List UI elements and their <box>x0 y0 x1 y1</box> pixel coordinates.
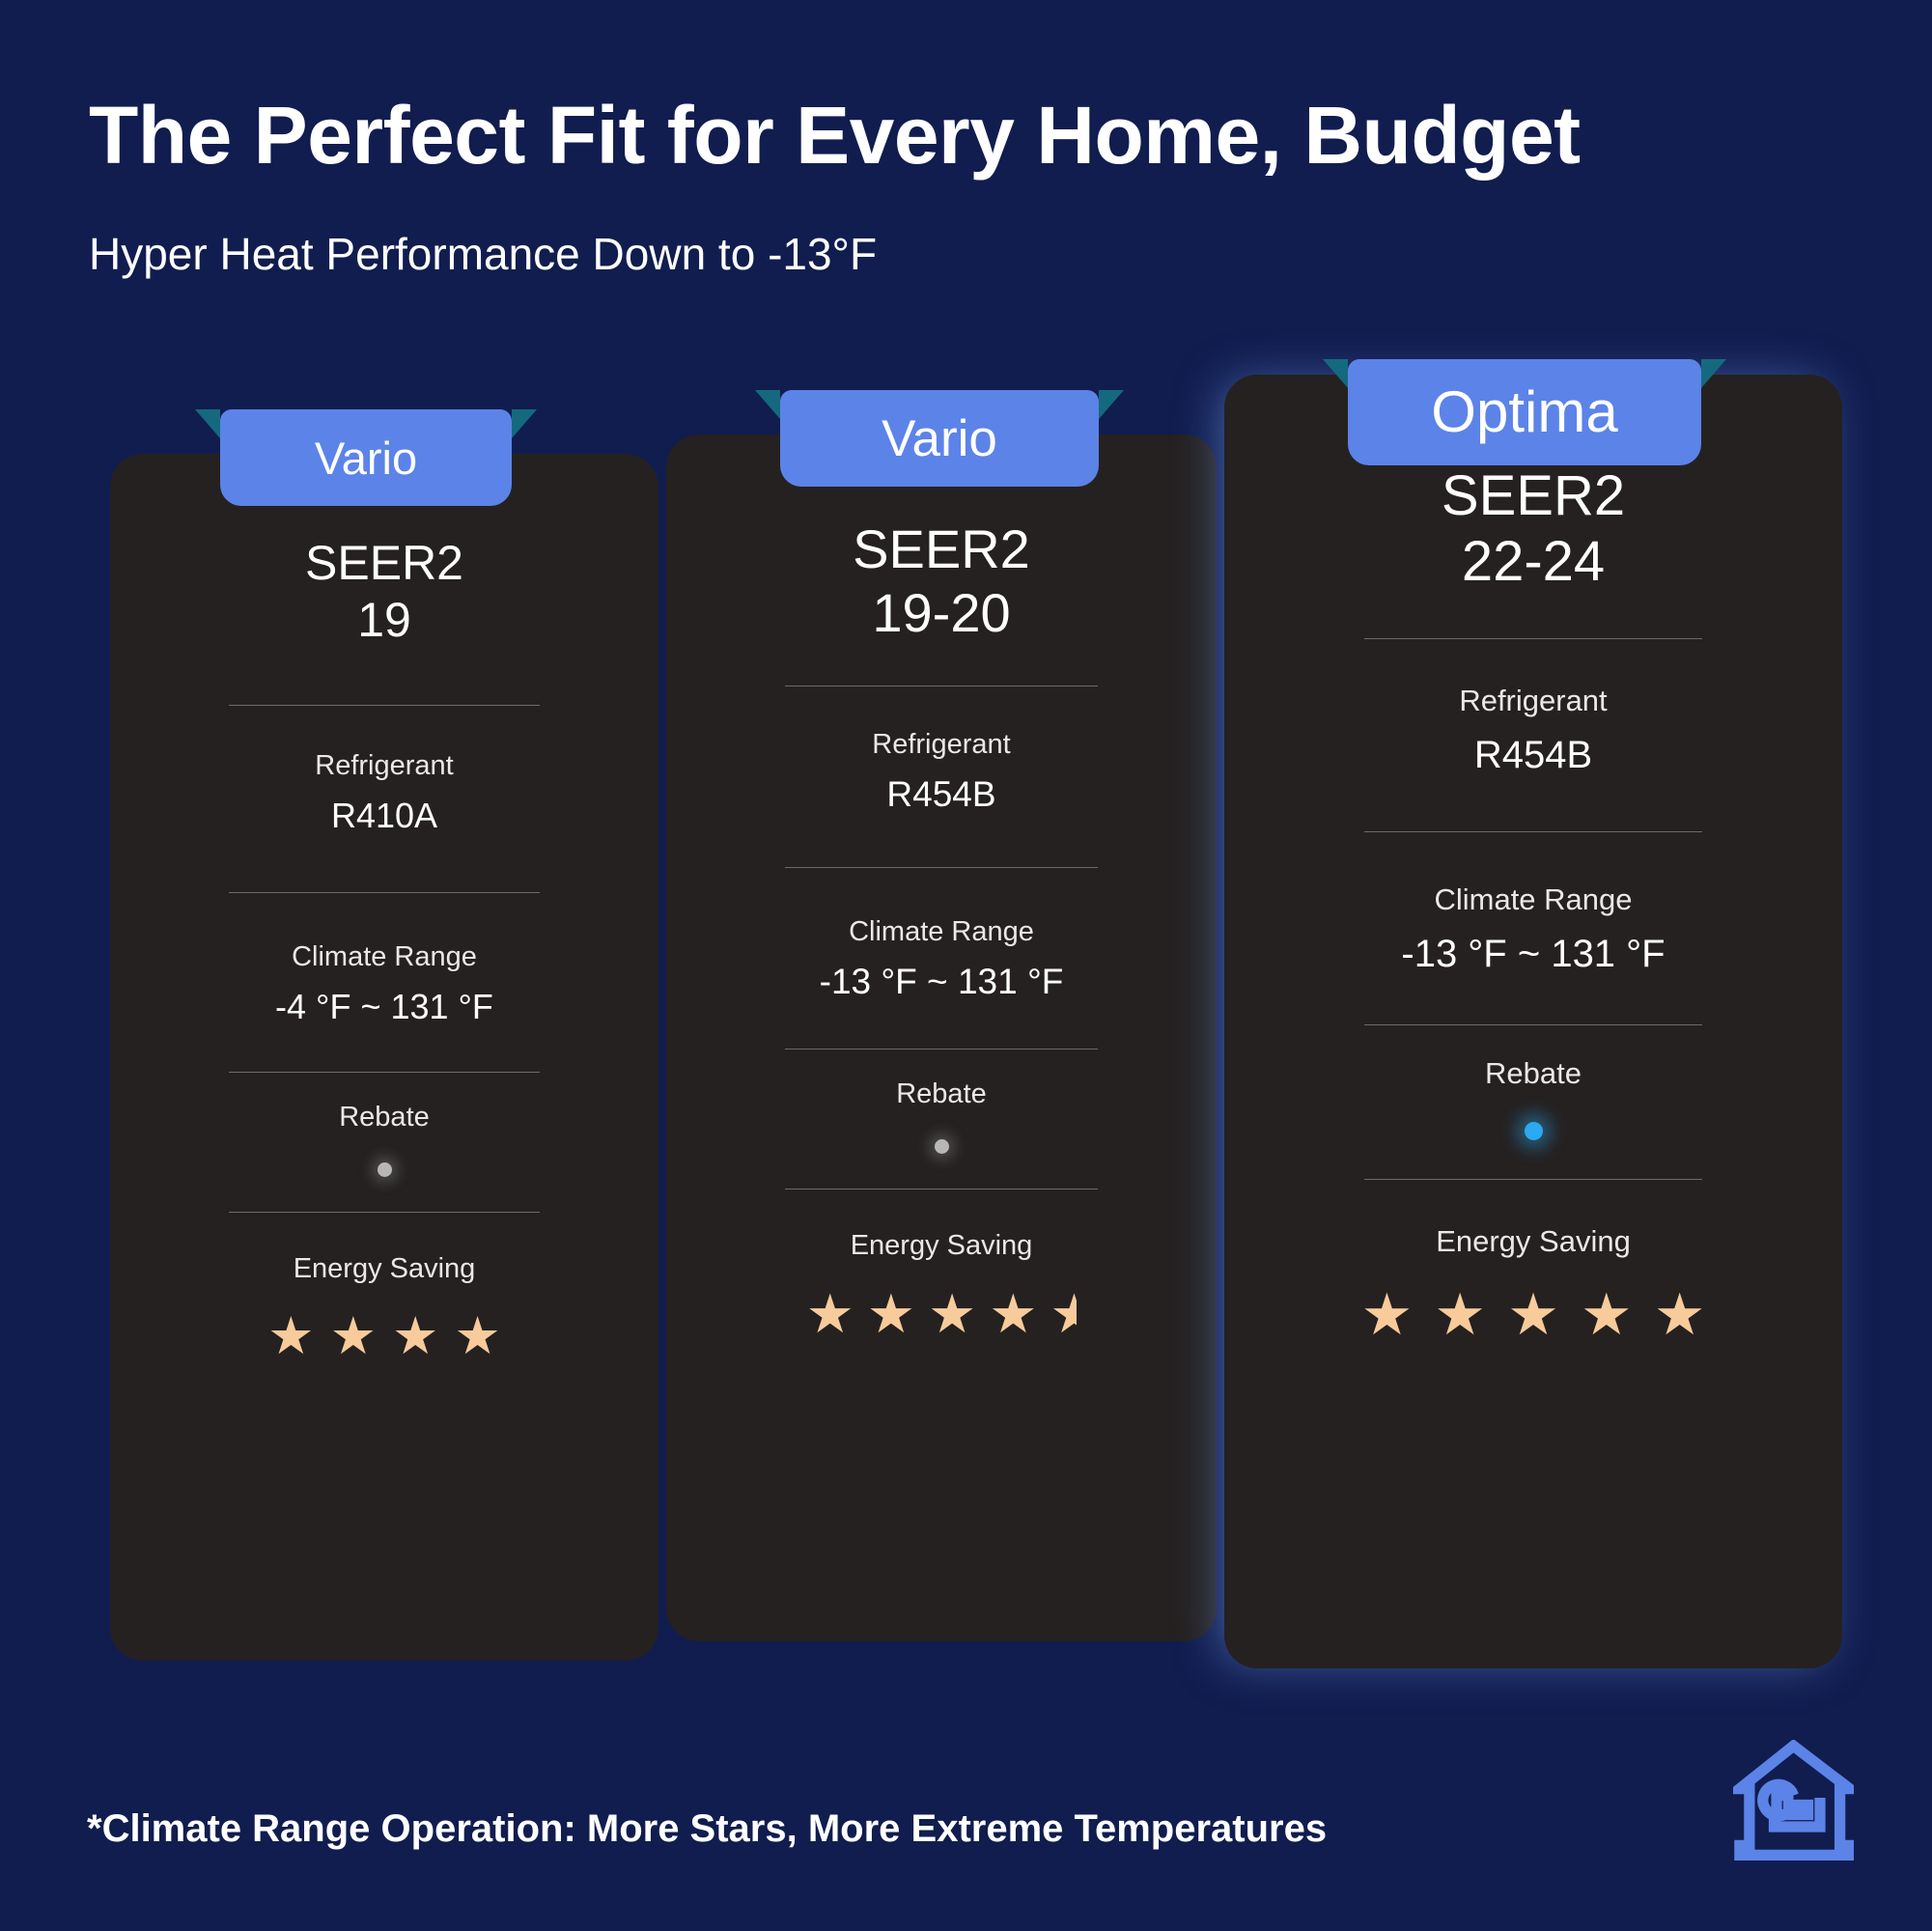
ribbon-fold-left-icon <box>1323 359 1348 388</box>
rebate-indicator-dot-icon <box>378 1162 392 1177</box>
product-card-list: SEER2 19 Refrigerant R410A Climate Range… <box>0 0 1932 1931</box>
star-icon: ★ <box>454 1310 500 1362</box>
spec-label: Refrigerant <box>110 750 658 782</box>
spec-value: R454B <box>666 774 1217 815</box>
spec-label: Rebate <box>666 1078 1217 1110</box>
spec-label: Energy Saving <box>110 1253 658 1285</box>
spec-label: Climate Range <box>666 916 1217 948</box>
ribbon-fold-left-icon <box>195 409 220 438</box>
spec-label: Climate Range <box>1224 882 1842 917</box>
ribbon-fold-left-icon <box>755 390 780 419</box>
star-icon: ★ <box>928 1287 976 1341</box>
star-icon: ★ <box>867 1287 915 1341</box>
spec-row-energy-saving: Energy Saving ★ ★ ★ ★ ★ <box>1224 1224 1842 1344</box>
seer-block: SEER2 22-24 <box>1442 463 1625 596</box>
spec-label: Rebate <box>110 1102 658 1133</box>
spec-label: Energy Saving <box>1224 1224 1842 1259</box>
star-icon: ★ <box>989 1287 1037 1341</box>
seer-value: 19-20 <box>853 581 1030 645</box>
product-card-vario-19[interactable]: SEER2 19 Refrigerant R410A Climate Range… <box>110 454 658 1661</box>
ribbon-fold-right-icon <box>512 409 537 438</box>
star-icon: ★ <box>806 1287 854 1341</box>
spec-row-rebate: Rebate <box>110 1102 658 1177</box>
seer-block: SEER2 19 <box>305 535 463 649</box>
spec-row-refrigerant: Refrigerant R454B <box>1224 684 1842 777</box>
ribbon-label: Optima <box>1431 383 1617 441</box>
spec-label: Energy Saving <box>666 1230 1217 1262</box>
spec-row-rebate: Rebate <box>1224 1056 1842 1140</box>
star-icon: ★ <box>392 1310 438 1362</box>
spec-row-climate-range: Climate Range -13 °F ~ 131 °F <box>1224 882 1842 976</box>
spec-label: Refrigerant <box>666 729 1217 761</box>
seer-label: SEER2 <box>1442 463 1625 529</box>
spec-row-energy-saving: Energy Saving ★ ★ ★ ★ ★ <box>666 1230 1217 1341</box>
spec-row-climate-range: Climate Range -4 °F ~ 131 °F <box>110 941 658 1027</box>
ribbon-fold-right-icon <box>1701 359 1726 388</box>
half-star-icon: ★ <box>1050 1287 1077 1341</box>
product-tier-ribbon-vario-1[interactable]: Vario <box>220 409 512 506</box>
rebate-indicator-dot-icon <box>935 1139 949 1154</box>
house-logo-icon <box>1733 1740 1854 1861</box>
star-icon: ★ <box>1581 1286 1633 1344</box>
star-icon: ★ <box>1507 1286 1559 1344</box>
rebate-indicator-dot-icon <box>1525 1122 1543 1140</box>
spec-value: -13 °F ~ 131 °F <box>1224 933 1842 976</box>
star-icon: ★ <box>1434 1286 1486 1344</box>
seer-label: SEER2 <box>305 535 463 592</box>
spec-label: Refrigerant <box>1224 684 1842 718</box>
energy-saving-stars: ★ ★ ★ ★ ★ <box>1224 1286 1842 1344</box>
spec-label: Rebate <box>1224 1056 1842 1091</box>
spec-row-refrigerant: Refrigerant R454B <box>666 729 1217 815</box>
star-icon: ★ <box>1361 1286 1414 1344</box>
energy-saving-stars: ★ ★ ★ ★ ★ <box>666 1287 1217 1341</box>
spec-value: -4 °F ~ 131 °F <box>110 987 658 1027</box>
star-icon: ★ <box>267 1310 314 1362</box>
footnote-text: *Climate Range Operation: More Stars, Mo… <box>87 1807 1327 1851</box>
card-content: SEER2 19 Refrigerant R410A Climate Range… <box>110 454 658 1362</box>
card-content: SEER2 19-20 Refrigerant R454B Climate Ra… <box>666 434 1217 1341</box>
spec-row-climate-range: Climate Range -13 °F ~ 131 °F <box>666 916 1217 1002</box>
spec-row-rebate: Rebate <box>666 1078 1217 1154</box>
product-card-optima[interactable]: SEER2 22-24 Refrigerant R454B Climate Ra… <box>1224 375 1842 1668</box>
spec-label: Climate Range <box>110 941 658 973</box>
energy-saving-stars: ★ ★ ★ ★ <box>110 1310 658 1362</box>
product-card-vario-19-20[interactable]: SEER2 19-20 Refrigerant R454B Climate Ra… <box>666 434 1217 1641</box>
product-tier-ribbon-optima[interactable]: Optima <box>1348 359 1701 465</box>
ribbon-fold-right-icon <box>1099 390 1124 419</box>
product-tier-ribbon-vario-2[interactable]: Vario <box>780 390 1099 487</box>
card-content: SEER2 22-24 Refrigerant R454B Climate Ra… <box>1224 375 1842 1344</box>
seer-label: SEER2 <box>853 518 1030 581</box>
spec-row-refrigerant: Refrigerant R410A <box>110 750 658 836</box>
spec-value: R410A <box>110 796 658 836</box>
spec-value: -13 °F ~ 131 °F <box>666 962 1217 1002</box>
ribbon-label: Vario <box>882 413 997 464</box>
seer-value: 22-24 <box>1442 529 1625 595</box>
star-icon: ★ <box>1654 1286 1706 1344</box>
spec-value: R454B <box>1224 734 1842 777</box>
ribbon-label: Vario <box>315 435 417 481</box>
seer-block: SEER2 19-20 <box>853 518 1030 645</box>
spec-row-energy-saving: Energy Saving ★ ★ ★ ★ <box>110 1253 658 1362</box>
star-icon: ★ <box>330 1310 377 1362</box>
seer-value: 19 <box>305 592 463 649</box>
